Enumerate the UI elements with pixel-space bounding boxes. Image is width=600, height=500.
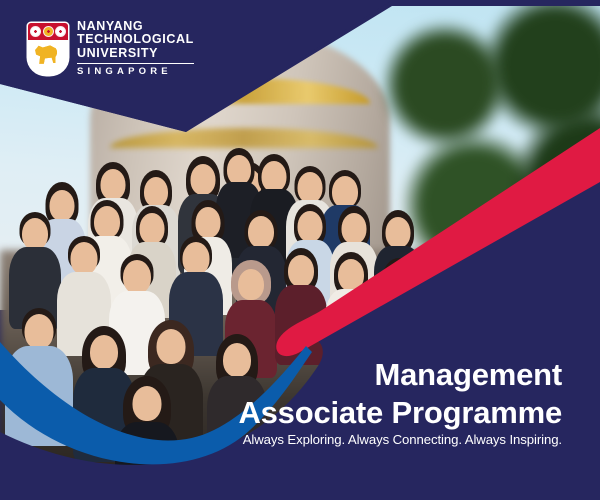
rose-icon: [44, 27, 53, 36]
wordmark-line-1: NANYANG: [77, 20, 194, 33]
tagline: Always Exploring. Always Connecting. Alw…: [243, 432, 562, 447]
ntu-crest-icon: [28, 23, 68, 75]
ntu-wordmark: NANYANG TECHNOLOGICAL UNIVERSITY SINGAPO…: [77, 20, 194, 77]
wordmark-divider: [77, 63, 194, 65]
poster-canvas: NANYANG TECHNOLOGICAL UNIVERSITY SINGAPO…: [0, 0, 600, 500]
ntu-logo: NANYANG TECHNOLOGICAL UNIVERSITY SINGAPO…: [28, 20, 194, 77]
rose-icon: [56, 27, 65, 36]
page-title: Management Associate Programme: [238, 356, 562, 433]
wordmark-location: SINGAPORE: [77, 67, 194, 77]
wordmark-line-2: TECHNOLOGICAL: [77, 33, 194, 46]
headline-line-1: Management: [238, 356, 562, 394]
wordmark-line-3: UNIVERSITY: [77, 47, 194, 60]
headline-line-2: Associate Programme: [238, 394, 562, 432]
rose-icon: [31, 27, 40, 36]
